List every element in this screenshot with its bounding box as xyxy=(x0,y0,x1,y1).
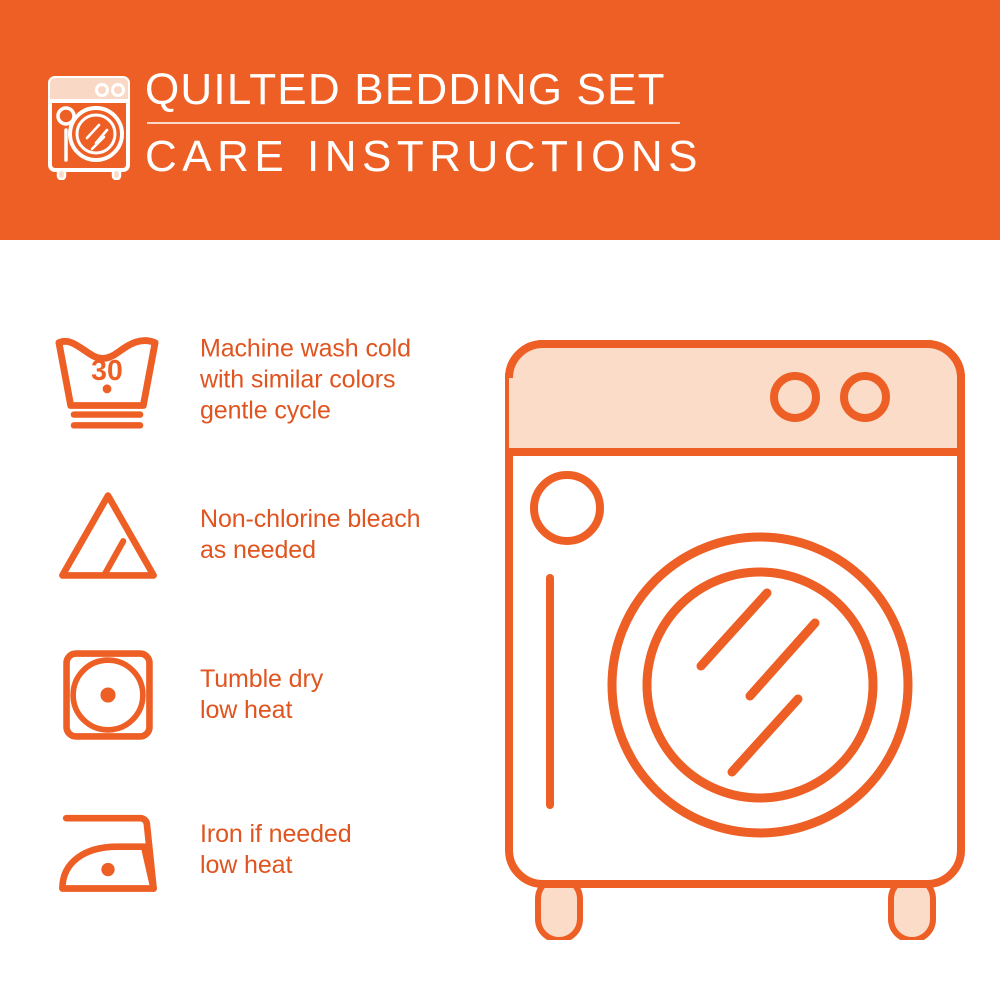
care-text-line: Non-chlorine bleach xyxy=(200,504,490,535)
care-instructions-page: QUILTED BEDDING SET CARE INSTRUCTIONS 30 xyxy=(0,0,1000,1000)
care-instructions-list: 30 Machine wash cold with similar colors… xyxy=(0,240,500,1000)
tumble-dry-low-heat-icon xyxy=(48,640,168,750)
iron-low-heat-icon xyxy=(48,795,168,905)
care-row-bleach: Non-chlorine bleach as needed xyxy=(0,455,500,615)
care-text-line: Tumble dry xyxy=(200,664,490,695)
care-text-bleach: Non-chlorine bleach as needed xyxy=(200,504,490,566)
care-text-line: Machine wash cold xyxy=(200,334,490,365)
page-subtitle: CARE INSTRUCTIONS xyxy=(145,131,705,183)
care-text-iron: Iron if needed low heat xyxy=(200,819,490,881)
wash-tub-30-gentle-icon: 30 xyxy=(48,325,168,435)
wash-temperature-label: 30 xyxy=(91,355,123,387)
washing-machine-illustration xyxy=(495,330,975,940)
care-text-tumble-dry: Tumble dry low heat xyxy=(200,664,490,726)
machine-control-panel xyxy=(509,344,961,452)
care-text-line: low heat xyxy=(200,695,490,726)
washing-machine-icon xyxy=(44,72,140,180)
care-text-line: low heat xyxy=(200,850,490,881)
header-band: QUILTED BEDDING SET CARE INSTRUCTIONS xyxy=(0,0,1000,240)
care-text-line: gentle cycle xyxy=(200,396,490,427)
care-row-machine-wash: 30 Machine wash cold with similar colors… xyxy=(0,300,500,460)
header-title-block: QUILTED BEDDING SET CARE INSTRUCTIONS xyxy=(145,64,705,183)
care-text-machine-wash: Machine wash cold with similar colors ge… xyxy=(200,334,490,427)
care-row-tumble-dry: Tumble dry low heat xyxy=(0,615,500,775)
title-divider xyxy=(147,122,680,124)
care-row-iron: Iron if needed low heat xyxy=(0,770,500,930)
care-text-line: Iron if needed xyxy=(200,819,490,850)
non-chlorine-bleach-triangle-icon xyxy=(48,480,168,590)
care-text-line: with similar colors xyxy=(200,365,490,396)
page-title: QUILTED BEDDING SET xyxy=(145,64,705,116)
care-text-line: as needed xyxy=(200,535,490,566)
